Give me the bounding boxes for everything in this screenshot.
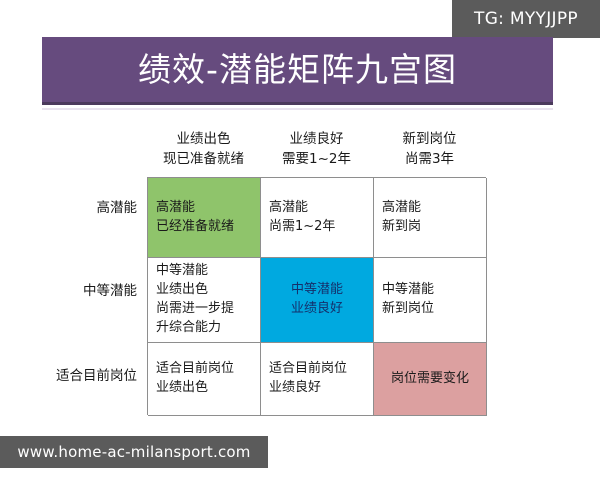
matrix-cell-r2c0: 适合目前岗位业绩出色 <box>148 343 261 416</box>
matrix-cell-line: 高潜能 <box>269 199 308 218</box>
matrix-cell-line: 适合目前岗位 <box>269 360 347 379</box>
matrix-column-headers: 业绩出色 现已准备就绪 业绩良好 需要1~2年 新到岗位 尚需3年 <box>147 122 486 177</box>
footer-url-bar: www.home-ac-milansport.com <box>0 436 268 468</box>
column-header-1-line2: 需要1~2年 <box>282 150 351 170</box>
matrix-cell-line: 业绩良好 <box>269 379 321 398</box>
tg-watermark-text: TG: MYYJJPP <box>474 9 578 29</box>
matrix-cell-line: 业绩出色 <box>156 281 208 300</box>
matrix-cell-line: 新到岗 <box>382 218 421 237</box>
matrix-cell-r1c2: 中等潜能新到岗位 <box>374 258 487 343</box>
title-banner: 绩效-潜能矩阵九宫图 <box>42 37 553 105</box>
matrix-cell-r1c1: 中等潜能业绩良好 <box>261 258 374 343</box>
matrix-cell-line: 业绩出色 <box>156 379 208 398</box>
matrix-cell-r0c0: 高潜能已经准备就绪 <box>148 178 261 258</box>
matrix-grid: 高潜能已经准备就绪 高潜能尚需1~2年 高潜能新到岗 中等潜能业绩出色尚需进一步… <box>147 177 486 415</box>
banner-underline-divider <box>42 108 553 110</box>
matrix-cell-line: 尚需1~2年 <box>269 218 335 237</box>
row-label-0: 高潜能 <box>0 199 137 218</box>
matrix-cell-line: 中等潜能 <box>156 262 208 281</box>
nine-box-matrix: 业绩出色 现已准备就绪 业绩良好 需要1~2年 新到岗位 尚需3年 高潜能 中等… <box>0 122 600 422</box>
column-header-0: 业绩出色 现已准备就绪 <box>147 122 260 177</box>
column-header-0-line2: 现已准备就绪 <box>163 150 244 170</box>
matrix-cell-line: 尚需进一步提 <box>156 300 234 319</box>
matrix-cell-line: 已经准备就绪 <box>156 218 234 237</box>
matrix-cell-r2c1: 适合目前岗位业绩良好 <box>261 343 374 416</box>
column-header-1-line1: 业绩良好 <box>290 130 344 150</box>
matrix-cell-line: 新到岗位 <box>382 300 434 319</box>
matrix-cell-line: 升综合能力 <box>156 319 221 338</box>
page-title: 绩效-潜能矩阵九宫图 <box>138 53 457 86</box>
matrix-cell-line: 中等潜能 <box>291 281 343 300</box>
row-label-2: 适合目前岗位 <box>0 367 137 386</box>
matrix-cell-r2c2: 岗位需要变化 <box>374 343 487 416</box>
matrix-cell-r0c2: 高潜能新到岗 <box>374 178 487 258</box>
matrix-cell-line: 高潜能 <box>382 199 421 218</box>
tg-watermark-badge: TG: MYYJJPP <box>452 0 600 38</box>
matrix-cell-r1c0: 中等潜能业绩出色尚需进一步提升综合能力 <box>148 258 261 343</box>
matrix-cell-line: 业绩良好 <box>291 300 343 319</box>
column-header-2-line2: 尚需3年 <box>405 150 454 170</box>
column-header-1: 业绩良好 需要1~2年 <box>260 122 373 177</box>
column-header-2: 新到岗位 尚需3年 <box>373 122 486 177</box>
footer-url-text: www.home-ac-milansport.com <box>17 443 250 461</box>
column-header-2-line1: 新到岗位 <box>403 130 457 150</box>
matrix-cell-line: 中等潜能 <box>382 281 434 300</box>
matrix-cell-line: 适合目前岗位 <box>156 360 234 379</box>
matrix-cell-r0c1: 高潜能尚需1~2年 <box>261 178 374 258</box>
matrix-cell-line: 岗位需要变化 <box>391 370 469 389</box>
column-header-0-line1: 业绩出色 <box>177 130 231 150</box>
matrix-cell-line: 高潜能 <box>156 199 195 218</box>
matrix-row-labels: 高潜能 中等潜能 适合目前岗位 <box>0 177 147 415</box>
row-label-1: 中等潜能 <box>0 282 137 301</box>
